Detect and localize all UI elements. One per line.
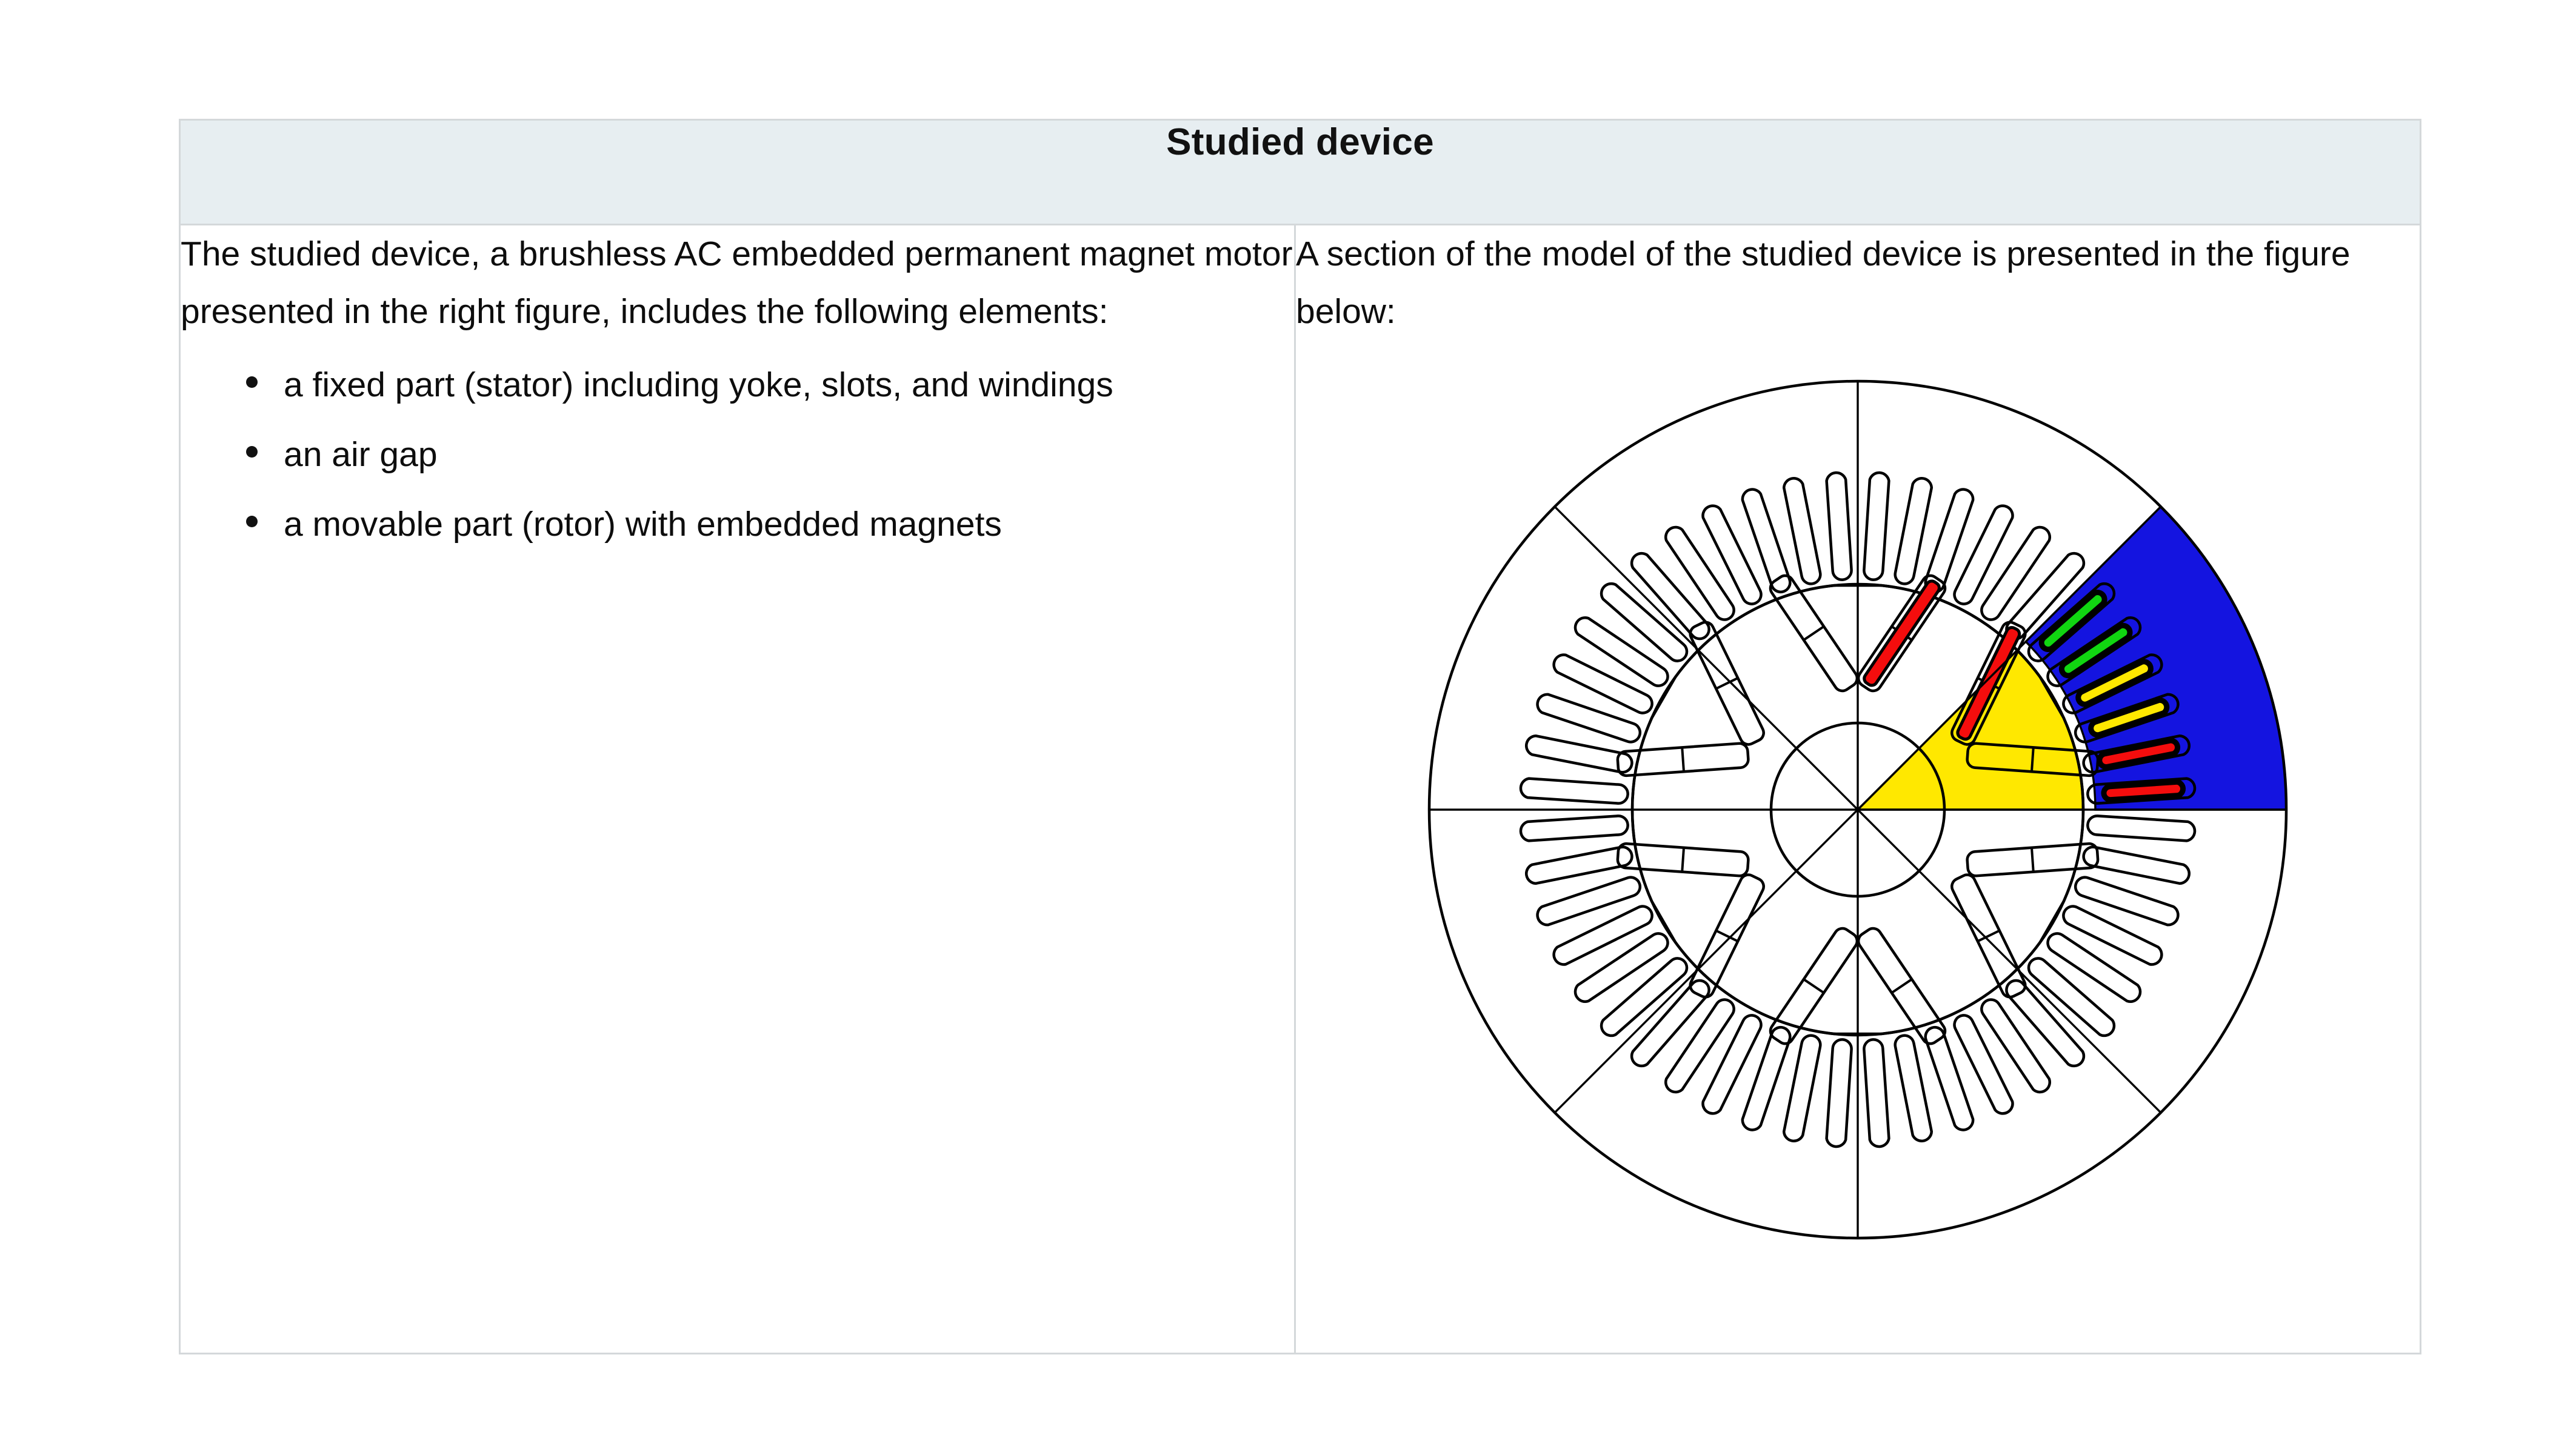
- stator-slot: [1538, 878, 1640, 925]
- stator-slot: [1895, 478, 1932, 584]
- stator-slot: [1864, 1039, 1889, 1147]
- stator-slot: [2075, 878, 2178, 925]
- stator-slot: [1575, 933, 1667, 1001]
- list-item-label: a fixed part (stator) including yoke, sl…: [284, 365, 1113, 404]
- figure-content: A section of the model of the studied de…: [1296, 225, 2420, 341]
- page-root: Studied device The studied device, a bru…: [0, 0, 2576, 1449]
- stator-slot: [1521, 816, 1628, 841]
- stator-slot: [1666, 1000, 1733, 1092]
- description-cell: The studied device, a brushless AC embed…: [180, 225, 1295, 1354]
- device-element-list: a fixed part (stator) including yoke, sl…: [181, 356, 1294, 553]
- magnet-highlight: [1862, 579, 1941, 687]
- stator-slot: [1784, 1036, 1820, 1141]
- table-body-row: The studied device, a brushless AC embed…: [180, 225, 2421, 1354]
- bullet-icon: [246, 446, 258, 458]
- figure-intro-paragraph: A section of the model of the studied de…: [1296, 225, 2420, 341]
- list-item: a movable part (rotor) with embedded mag…: [246, 496, 1294, 553]
- stator-slot: [1981, 527, 2049, 619]
- list-item-label: an air gap: [284, 435, 438, 474]
- page-title: Studied device: [1166, 121, 1434, 163]
- magnet-highlight-bar: [1862, 579, 1941, 687]
- stator-slot: [1955, 506, 2013, 604]
- figure-cell: A section of the model of the studied de…: [1295, 225, 2421, 1354]
- magnet-divider: [2032, 747, 2034, 771]
- studied-device-table: Studied device The studied device, a bru…: [179, 119, 2421, 1354]
- table-header-cell: Studied device: [180, 120, 2421, 225]
- stator-slot: [2048, 933, 2140, 1001]
- list-item-label: a movable part (rotor) with embedded mag…: [284, 505, 1002, 544]
- description-intro-paragraph: The studied device, a brushless AC embed…: [181, 225, 1294, 341]
- magnet-divider: [1804, 627, 1824, 640]
- stator-slot: [1703, 1015, 1761, 1113]
- stator-slot: [1895, 1036, 1932, 1141]
- stator-slot: [2087, 816, 2195, 841]
- stator-slot: [1981, 1000, 2049, 1092]
- stator-slot: [1554, 907, 1652, 965]
- description-content: The studied device, a brushless AC embed…: [181, 225, 1294, 553]
- phase-red-winding: [2104, 782, 2183, 799]
- stator-slot: [1864, 473, 1889, 580]
- stator-slot: [1521, 779, 1628, 804]
- magnet-divider: [1892, 979, 1912, 993]
- bullet-icon: [246, 376, 258, 388]
- axis-line: [1858, 810, 2161, 1113]
- stator-slot: [1784, 478, 1820, 584]
- figure-wrapper: [1296, 349, 2420, 1270]
- table-header-row: Studied device: [180, 120, 2421, 225]
- stator-slot: [1526, 847, 1632, 884]
- magnet-divider: [2032, 848, 2034, 872]
- stator-slot: [1827, 473, 1852, 580]
- motor-cross-section-figure: [1394, 349, 2321, 1270]
- list-item: a fixed part (stator) including yoke, sl…: [246, 356, 1294, 414]
- stator-slot: [1554, 655, 1652, 713]
- magnet-divider: [1682, 848, 1684, 872]
- stator-slot: [1575, 618, 1667, 685]
- axis-line: [1555, 507, 1858, 810]
- stator-slot: [2063, 907, 2161, 965]
- axis-line: [1555, 810, 1858, 1113]
- stator-slot: [1526, 736, 1632, 772]
- stator-slot: [2084, 847, 2189, 884]
- magnet-divider: [1804, 979, 1824, 993]
- stator-slot: [1666, 527, 1733, 619]
- list-item: an air gap: [246, 426, 1294, 484]
- stator-slot: [1955, 1015, 2013, 1113]
- stator-slot: [1827, 1039, 1852, 1147]
- bullet-icon: [246, 516, 258, 527]
- magnet-divider: [1682, 747, 1684, 771]
- stator-slot: [1703, 506, 1761, 604]
- stator-slot: [1538, 695, 1640, 742]
